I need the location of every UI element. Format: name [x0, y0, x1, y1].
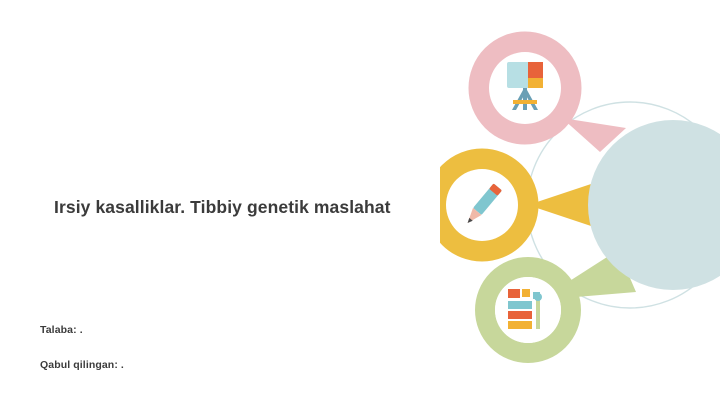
pencil-icon: [463, 183, 502, 226]
yellow-ring: [440, 159, 528, 251]
slide-title: Irsiy kasalliklar. Tibbiy genetik maslah…: [54, 196, 434, 218]
books-icon: [508, 289, 542, 329]
large-teal-disc: [588, 120, 720, 290]
easel-icon: [507, 62, 543, 110]
yellow-connector: [528, 176, 615, 234]
pink-ring: [479, 42, 571, 134]
green-ring-inner: [495, 277, 561, 343]
green-ring: [485, 267, 571, 353]
green-connector: [540, 250, 636, 300]
student-line: Talaba: .: [40, 324, 83, 336]
slide-canvas: Irsiy kasalliklar. Tibbiy genetik maslah…: [0, 0, 720, 406]
pink-connector: [562, 118, 626, 152]
accepted-by-line: Qabul qilingan: .: [40, 359, 124, 371]
yellow-ring-inner: [446, 169, 518, 241]
decorative-circles-cluster: [440, 0, 720, 406]
pink-ring-inner: [489, 52, 561, 124]
teal-outline-circle: [527, 102, 720, 308]
